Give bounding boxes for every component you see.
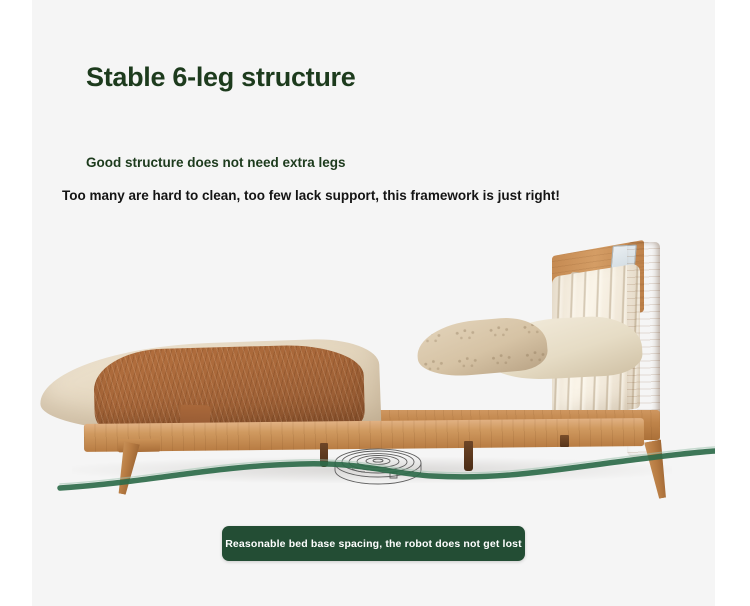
subtitle-primary: Good structure does not need extra legs [86,155,346,170]
page-title: Stable 6-leg structure [86,62,355,93]
status-badge[interactable]: Reasonable bed base spacing, the robot d… [222,526,525,561]
content-panel: Stable 6-leg structure Good structure do… [32,0,715,606]
product-photo [32,225,715,515]
leg-center-mid [464,441,473,471]
leg-center-right [560,435,569,447]
subtitle-secondary: Too many are hard to clean, too few lack… [62,188,560,203]
product-detail-page: Stable 6-leg structure Good structure do… [0,0,750,606]
knit-throw [93,343,365,430]
status-badge-label: Reasonable bed base spacing, the robot d… [225,538,522,550]
leg-center-left [320,443,328,467]
robot-vacuum [332,443,424,491]
